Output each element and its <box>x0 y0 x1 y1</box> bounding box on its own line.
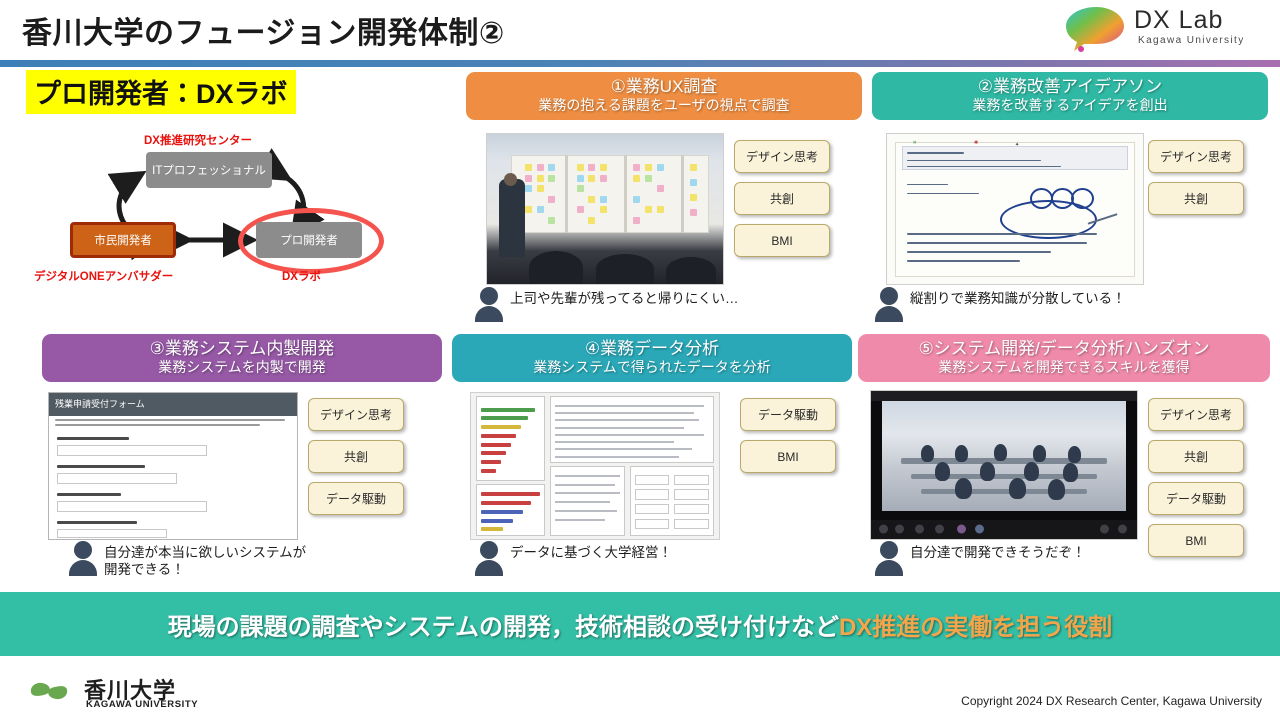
pro-developer-heading: プロ開発者：DXラボ <box>26 70 296 114</box>
tag-item: 共創 <box>1148 440 1244 473</box>
summary-banner: 現場の課題の調査やシステムの開発，技術相談の受け付けなどDX推進の実働を担う役割 <box>0 592 1280 656</box>
tag-list-hands-on: デザイン思考 共創 データ駆動 BMI <box>1148 398 1244 557</box>
video-feed <box>882 401 1127 511</box>
quote-ux-research: 上司や先輩が残ってると帰りにくい… <box>474 286 739 320</box>
tag-item: デザイン思考 <box>734 140 830 173</box>
card-in-house-dev: ③業務システム内製開発 業務システムを内製で開発 <box>42 334 442 382</box>
page-title: 香川大学のフュージョン開発体制② <box>22 8 505 52</box>
card-title: ①業務UX調査 <box>470 77 858 97</box>
fusion-structure-diagram: DX推進研究センター ITプロフェッショナル プロ開発者 市民開発者 デジタルO… <box>34 130 414 290</box>
photo-ideathon-whiteboard: ✕ ✱ ✦ <box>886 133 1144 285</box>
card-subtitle: 業務システムで得られたデータを分析 <box>456 359 848 376</box>
quote-text: 自分達で開発できそうだぞ！ <box>910 540 1086 562</box>
diagram-box-it-professional: ITプロフェッショナル <box>146 152 272 188</box>
card-subtitle: 業務システムを開発できるスキルを獲得 <box>862 359 1266 376</box>
quote-text: データに基づく大学経営！ <box>510 540 672 562</box>
title-divider <box>0 60 1280 67</box>
diagram-box-citizen-developer: 市民開発者 <box>70 222 176 258</box>
tag-list-ux-research: デザイン思考 共創 BMI <box>734 140 830 257</box>
summary-banner-text: 現場の課題の調査やシステムの開発，技術相談の受け付けなどDX推進の実働を担う役割 <box>168 607 1113 642</box>
video-controls-bar[interactable] <box>871 520 1137 539</box>
card-header-hands-on: ⑤システム開発/データ分析ハンズオン 業務システムを開発できるスキルを獲得 <box>858 334 1270 382</box>
card-header-in-house-dev: ③業務システム内製開発 業務システムを内製で開発 <box>42 334 442 382</box>
tag-item: データ駆動 <box>308 482 404 515</box>
quote-hands-on: 自分達で開発できそうだぞ！ <box>874 540 1086 574</box>
tag-item: 共創 <box>308 440 404 473</box>
card-title: ②業務改善アイデアソン <box>876 77 1264 97</box>
tag-item: デザイン思考 <box>1148 398 1244 431</box>
slide-root: 香川大学のフュージョン開発体制② DX Lab Kagawa Universit… <box>0 0 1280 720</box>
person-icon <box>874 286 904 320</box>
photo-bi-dashboard <box>470 392 720 540</box>
card-subtitle: 業務の抱える課題をユーザの視点で調査 <box>470 97 858 114</box>
card-ideathon: ②業務改善アイデアソン 業務を改善するアイデアを創出 <box>872 72 1268 120</box>
quote-text: 自分達が本当に欲しいシステムが 開発できる！ <box>104 540 306 579</box>
tag-list-ideathon: デザイン思考 共創 <box>1148 140 1244 215</box>
tag-list-in-house-dev: デザイン思考 共創 データ駆動 <box>308 398 404 515</box>
quote-data-analysis: データに基づく大学経営！ <box>474 540 672 574</box>
photo-ux-research-workshop <box>486 133 724 285</box>
card-header-ux-research: ①業務UX調査 業務の抱える課題をユーザの視点で調査 <box>466 72 862 120</box>
person-icon <box>68 540 98 574</box>
card-header-data-analysis: ④業務データ分析 業務システムで得られたデータを分析 <box>452 334 852 382</box>
summary-plain: 現場の課題の調査やシステムの開発，技術相談の受け付けなど <box>168 614 839 641</box>
person-icon <box>474 286 504 320</box>
photo-handson-classroom <box>870 390 1138 540</box>
tag-item: デザイン思考 <box>1148 140 1244 173</box>
card-title: ③業務システム内製開発 <box>46 339 438 359</box>
quote-text: 縦割りで業務知識が分散している！ <box>910 286 1126 308</box>
tag-item: 共創 <box>1148 182 1244 215</box>
card-header-ideathon: ②業務改善アイデアソン 業務を改善するアイデアを創出 <box>872 72 1268 120</box>
dx-lab-speech-bubble-icon <box>1062 4 1132 52</box>
card-title: ⑤システム開発/データ分析ハンズオン <box>862 339 1266 359</box>
title-bar: 香川大学のフュージョン開発体制② DX Lab Kagawa Universit… <box>0 0 1280 62</box>
kagawa-leaf-icon <box>26 676 72 706</box>
quote-ideathon: 縦割りで業務知識が分散している！ <box>874 286 1126 320</box>
copyright-text: Copyright 2024 DX Research Center, Kagaw… <box>961 694 1262 708</box>
card-ux-research: ①業務UX調査 業務の抱える課題をユーザの視点で調査 <box>466 72 862 120</box>
tag-item: デザイン思考 <box>308 398 404 431</box>
photo-overtime-request-form: 残業申請受付フォーム <box>48 392 298 540</box>
dx-lab-sub: Kagawa University <box>1138 35 1245 46</box>
card-subtitle: 業務システムを内製で開発 <box>46 359 438 376</box>
diagram-label-pro: DXラボ <box>282 268 321 284</box>
person-icon <box>874 540 904 574</box>
dx-lab-logo: DX Lab Kagawa University <box>1062 4 1262 54</box>
tag-list-data-analysis: データ駆動 BMI <box>740 398 836 473</box>
tag-item: BMI <box>740 440 836 473</box>
tag-item: 共創 <box>734 182 830 215</box>
tag-item: データ駆動 <box>740 398 836 431</box>
form-title: 残業申請受付フォーム <box>55 397 145 410</box>
card-subtitle: 業務を改善するアイデアを創出 <box>876 97 1264 114</box>
diagram-box-pro-developer: プロ開発者 <box>256 222 362 258</box>
summary-highlight: DX推進の実働を担う役割 <box>839 614 1112 641</box>
card-hands-on: ⑤システム開発/データ分析ハンズオン 業務システムを開発できるスキルを獲得 <box>858 334 1270 382</box>
dx-lab-name: DX Lab <box>1134 6 1223 35</box>
card-title: ④業務データ分析 <box>456 339 848 359</box>
card-data-analysis: ④業務データ分析 業務システムで得られたデータを分析 <box>452 334 852 382</box>
person-icon <box>474 540 504 574</box>
quote-text: 上司や先輩が残ってると帰りにくい… <box>510 286 739 308</box>
kagawa-university-logo: 香川大学 KAGAWA UNIVERSITY <box>26 672 276 712</box>
diagram-label-citizen: デジタルONEアンバサダー <box>34 268 173 284</box>
presenter-figure <box>499 179 525 257</box>
tag-item: BMI <box>734 224 830 257</box>
tag-item: BMI <box>1148 524 1244 557</box>
tag-item: データ駆動 <box>1148 482 1244 515</box>
quote-in-house-dev: 自分達が本当に欲しいシステムが 開発できる！ <box>68 540 306 579</box>
university-name-en: KAGAWA UNIVERSITY <box>86 699 198 710</box>
